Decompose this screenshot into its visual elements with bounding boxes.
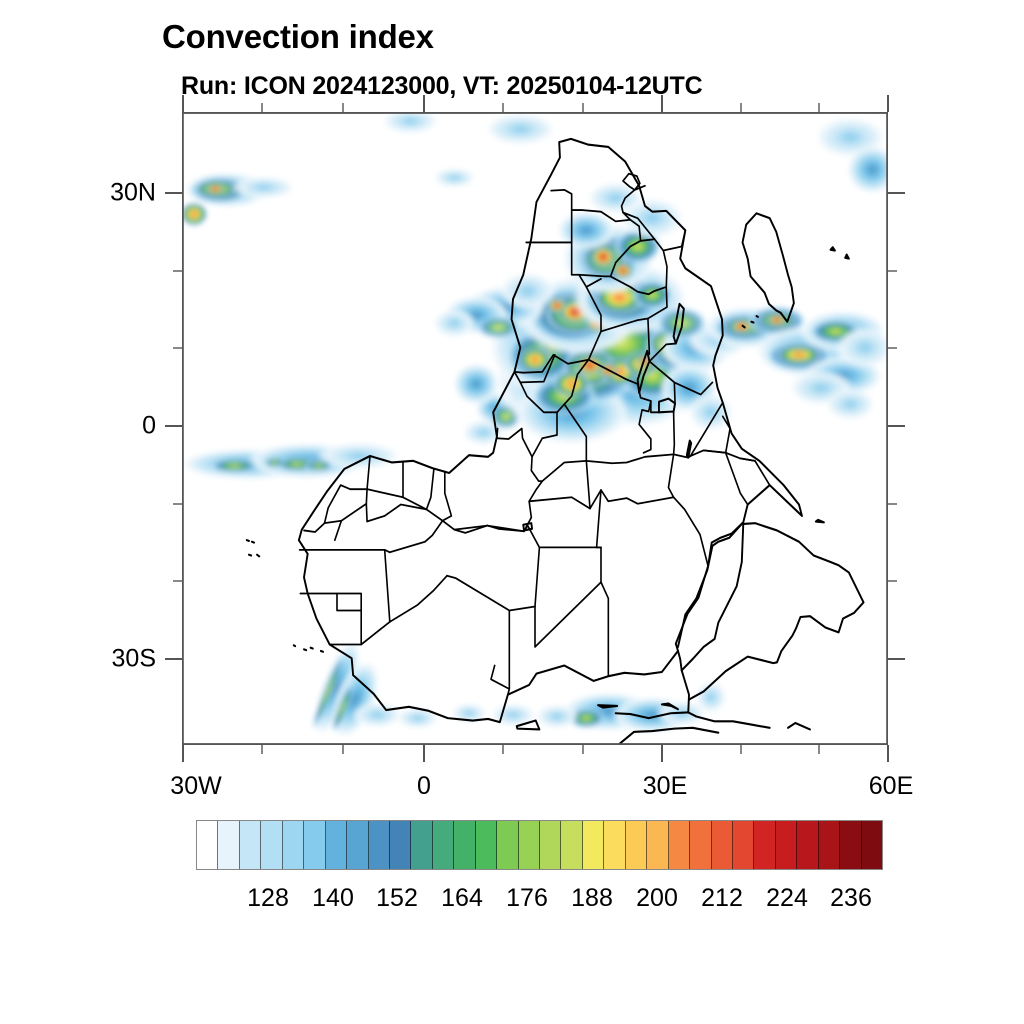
colorbar-cell <box>497 821 518 869</box>
map-canvas <box>183 113 887 744</box>
x-tick-minor <box>342 745 344 754</box>
colorbar-tick-212: 212 <box>701 884 743 913</box>
colorbar-cell <box>540 821 561 869</box>
x-tick-major <box>423 745 425 762</box>
y-tick-minor-right <box>888 270 897 272</box>
colorbar-tick-188: 188 <box>571 884 613 913</box>
x-tick-minor-top <box>582 103 584 112</box>
x-tick-minor-top <box>502 103 504 112</box>
colorbar-tick-224: 224 <box>766 884 808 913</box>
x-tick-major-top <box>661 95 663 112</box>
x-tick-major <box>661 745 663 762</box>
colorbar-tick-200: 200 <box>636 884 678 913</box>
y-axis-label-0: 0 <box>44 412 156 441</box>
colorbar-cell <box>411 821 432 869</box>
run-info-label: Run: ICON 2024123000, VT: 20250104-12UTC <box>181 72 702 101</box>
x-axis-label-60e: 60E <box>869 772 913 801</box>
x-axis-label-30w: 30W <box>170 772 221 801</box>
x-tick-major <box>182 745 184 762</box>
colorbar-cell <box>240 821 261 869</box>
y-tick-major-right <box>888 658 905 660</box>
map-plot-area[interactable] <box>182 112 888 745</box>
x-tick-minor-top <box>740 103 742 112</box>
colorbar-tick-128: 128 <box>247 884 289 913</box>
x-tick-minor <box>502 745 504 754</box>
colorbar-cell <box>862 821 882 869</box>
colorbar-cell <box>604 821 625 869</box>
colorbar-cell <box>733 821 754 869</box>
y-tick-minor <box>173 503 182 505</box>
x-tick-major-top <box>887 95 889 112</box>
y-tick-minor <box>173 347 182 349</box>
colorbar-cell <box>776 821 797 869</box>
feature-southern-wisps <box>381 113 887 194</box>
colorbar-cell <box>647 821 668 869</box>
x-tick-major-top <box>182 95 184 112</box>
y-axis-label-30n: 30N <box>44 179 156 208</box>
colorbar-cell <box>690 821 711 869</box>
x-tick-minor <box>818 745 820 754</box>
colorbar-cell <box>369 821 390 869</box>
colorbar-tick-152: 152 <box>376 884 418 913</box>
colorbar-tick-140: 140 <box>312 884 354 913</box>
colorbar-tick-164: 164 <box>441 884 483 913</box>
colorbar[interactable] <box>196 820 883 870</box>
y-tick-major <box>165 192 182 194</box>
colorbar-cell <box>583 821 604 869</box>
colorbar-cell <box>754 821 775 869</box>
colorbar-cell <box>304 821 325 869</box>
colorbar-tick-176: 176 <box>506 884 548 913</box>
colorbar-cell <box>476 821 497 869</box>
x-tick-minor <box>261 745 263 754</box>
x-tick-minor <box>582 745 584 754</box>
page-title: Convection index <box>162 18 434 56</box>
x-axis-label-0: 0 <box>417 772 431 801</box>
x-tick-minor-top <box>342 103 344 112</box>
colorbar-tick-236: 236 <box>830 884 872 913</box>
feature-northeast-mediterranean-cloud <box>451 681 727 733</box>
y-axis-label-30s: 30S <box>44 645 156 674</box>
colorbar-cell <box>712 821 733 869</box>
colorbar-cell <box>347 821 368 869</box>
y-tick-minor <box>173 270 182 272</box>
colorbar-cell <box>797 821 818 869</box>
y-tick-minor-right <box>888 347 897 349</box>
colorbar-cell <box>197 821 218 869</box>
y-tick-major <box>165 658 182 660</box>
colorbar-cell <box>840 821 861 869</box>
x-tick-major <box>887 745 889 762</box>
y-tick-minor <box>173 580 182 582</box>
colorbar-cell <box>561 821 582 869</box>
colorbar-cell <box>261 821 282 869</box>
x-tick-minor-top <box>818 103 820 112</box>
colorbar-cell <box>390 821 411 869</box>
y-tick-minor-right <box>888 580 897 582</box>
y-tick-major <box>165 425 182 427</box>
colorbar-cell <box>626 821 647 869</box>
y-tick-major-right <box>888 192 905 194</box>
colorbar-cell <box>669 821 690 869</box>
y-tick-major-right <box>888 425 905 427</box>
colorbar-cell <box>433 821 454 869</box>
y-tick-minor-right <box>888 503 897 505</box>
colorbar-cell <box>326 821 347 869</box>
colorbar-cell <box>218 821 239 869</box>
x-tick-minor-top <box>261 103 263 112</box>
feature-mediterranean-frontal-band <box>304 633 439 744</box>
x-tick-minor <box>740 745 742 754</box>
x-axis-label-30e: 30E <box>643 772 687 801</box>
x-tick-major-top <box>423 95 425 112</box>
colorbar-cell <box>454 821 475 869</box>
colorbar-cell <box>283 821 304 869</box>
colorbar-cell <box>819 821 840 869</box>
feature-south-atlantic-cold-front <box>183 172 297 225</box>
colorbar-cell <box>519 821 540 869</box>
